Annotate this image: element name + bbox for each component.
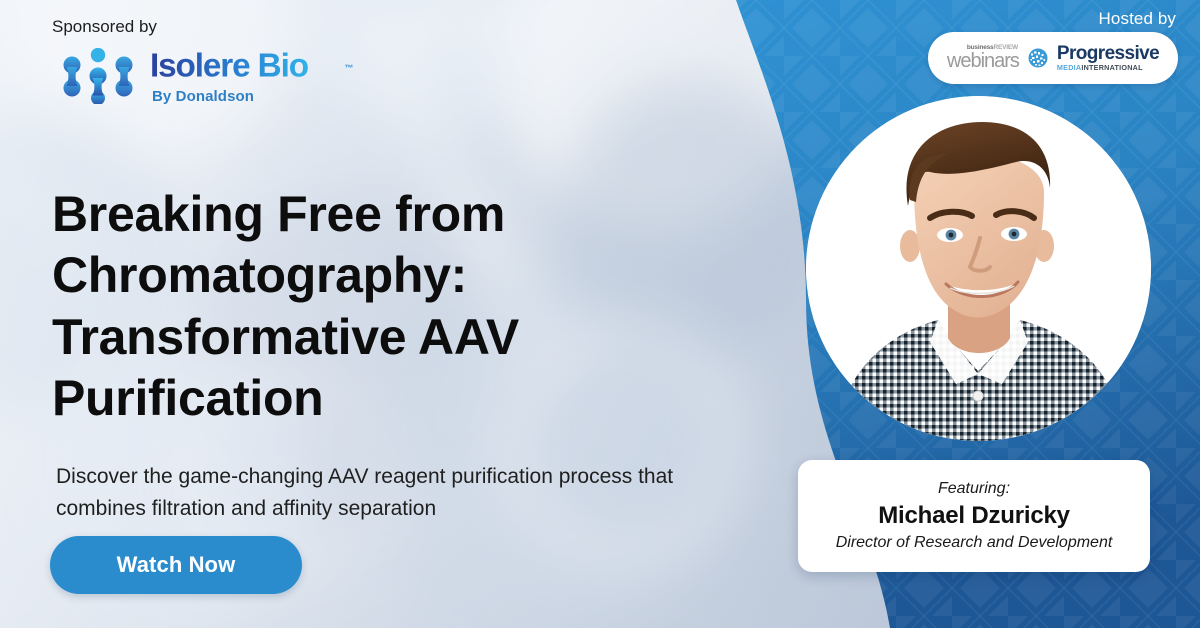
host-logos-card: businessREVIEW webinars Progressive MEDI… [928, 32, 1178, 84]
trademark-symbol: ™ [344, 64, 353, 73]
hosted-by-label: Hosted by [1099, 9, 1176, 29]
speaker-info-card: Featuring: Michael Dzuricky Director of … [798, 460, 1150, 572]
featuring-label: Featuring: [938, 479, 1010, 498]
sponsored-by-label: Sponsored by [52, 17, 157, 37]
watch-now-button[interactable]: Watch Now [50, 536, 302, 594]
globe-mosaic-icon [1028, 48, 1048, 68]
page-subtitle: Discover the game-changing AAV reagent p… [56, 461, 676, 525]
isolere-bio-wordmark: Isolere Bio [150, 48, 342, 85]
speaker-photo [806, 96, 1151, 441]
progressive-subtitle: MEDIAINTERNATIONAL [1057, 64, 1143, 71]
isolere-bio-wordmark-block: Isolere Bio ™ By Donaldson [150, 48, 353, 104]
speaker-title: Director of Research and Development [836, 533, 1113, 554]
progressive-wordmark: Progressive [1057, 44, 1159, 63]
webinar-promo-banner: Hosted by businessREVIEW webinars P [0, 0, 1200, 628]
svg-text:Isolere Bio: Isolere Bio [150, 48, 309, 85]
business-review-webinars-logo: businessREVIEW webinars [947, 45, 1019, 72]
progressive-media-international-logo: Progressive MEDIAINTERNATIONAL [1057, 44, 1159, 71]
by-donaldson-byline: By Donaldson [152, 89, 353, 104]
webinars-wordmark: webinars [947, 52, 1019, 71]
molecule-dumbbell-icon [60, 48, 138, 104]
page-title: Breaking Free from Chromatography: Trans… [52, 184, 652, 430]
isolere-bio-logo: Isolere Bio ™ By Donaldson [60, 48, 353, 104]
speaker-name: Michael Dzuricky [878, 502, 1070, 530]
